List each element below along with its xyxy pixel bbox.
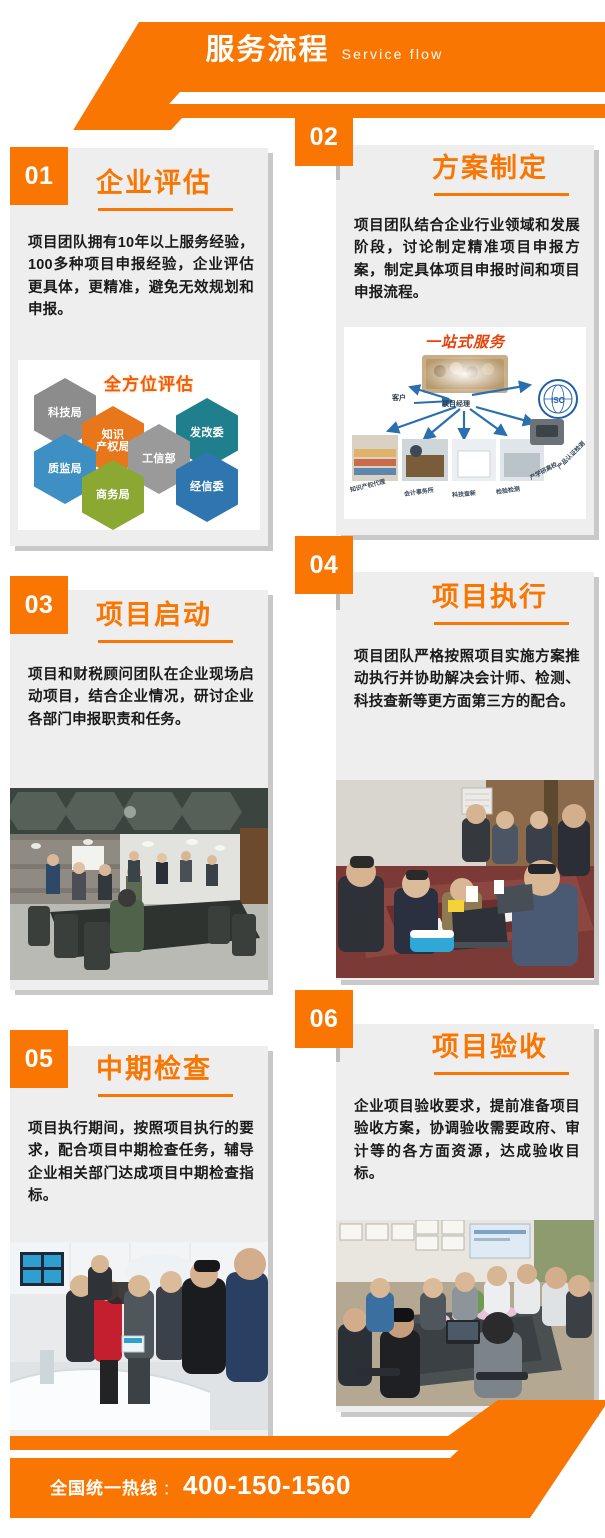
footer-banner-shape — [0, 1400, 605, 1538]
card-04[interactable]: 项目执行 项目团队严格按照项目实施方案推动执行并协助解决会计师、检测、科技查新等… — [336, 572, 594, 980]
card-01-body: 项目团队拥有10年以上服务经验，100多种项目申报经验，企业评估更具体，更精准，… — [28, 232, 254, 322]
hex-chart-title: 全方位评估 — [104, 370, 194, 395]
card-05-title: 中期检查 — [96, 1056, 212, 1083]
card-02-title: 方案制定 — [432, 155, 548, 182]
card-06-title: 项目验收 — [432, 1034, 548, 1061]
card-03-photo — [10, 788, 268, 980]
card-03[interactable]: 项目启动 项目和财税顾问团队在企业现场启动项目，结合企业情况，研讨企业各部门申报… — [10, 590, 268, 990]
card-01-title-rule — [98, 208, 233, 211]
card-01[interactable]: 企业评估 项目团队拥有10年以上服务经验，100多种项目申报经验，企业评估更具体… — [10, 148, 268, 546]
card-03-title: 项目启动 — [96, 602, 212, 629]
card-04-title: 项目执行 — [432, 584, 548, 611]
card-01-title: 企业评估 — [96, 170, 212, 197]
footer-banner: 全国统一热线 ： 400-150-1560 — [0, 1400, 605, 1538]
card-04-badge-stem — [336, 592, 340, 610]
hexagon-assessment-chart: 全方位评估 科技局 知识 产权局 发改委 质监局 工信部 商务局 经信委 — [18, 360, 260, 530]
card-06-title-rule — [434, 1072, 569, 1075]
card-05[interactable]: 中期检查 项目执行期间，按照项目执行的要求，配合项目中期检查任务，辅导企业相关部… — [10, 1046, 268, 1436]
card-04-photo — [336, 780, 594, 978]
card-06[interactable]: 项目验收 企业项目验收要求，提前准备项目验收方案，协调验收需要政府、审计等的各方… — [336, 1024, 594, 1412]
card-06-body: 企业项目验收要求，提前准备项目验收方案，协调验收需要政府、审计等的各方面资源，达… — [354, 1096, 580, 1186]
card-02-badge: 02 — [295, 108, 353, 166]
service-flow-infographic: 服务流程 Service flow 企业评估 项目团队拥有10年以上服务经验，1… — [0, 0, 605, 1538]
card-02[interactable]: 方案制定 项目团队结合企业行业领域和发展阶段，讨论制定精准项目申报方案，制定具体… — [336, 145, 594, 535]
card-03-badge: 03 — [10, 576, 68, 634]
hotline-separator: ： — [160, 1478, 181, 1499]
svg-text:ISO: ISO — [551, 396, 565, 405]
card-02-body: 项目团队结合企业行业领域和发展阶段，讨论制定精准项目申报方案，制定具体项目申报时… — [354, 215, 580, 305]
one-stop-service-diagram: 一站式服务 — [344, 327, 586, 519]
card-06-badge: 06 — [295, 990, 353, 1048]
oss-center-label-customer: 客户 — [392, 393, 406, 403]
card-06-photo — [336, 1220, 594, 1406]
card-02-title-rule — [434, 193, 569, 196]
oss-center-label-manager: 项目经理 — [442, 399, 470, 409]
card-05-badge: 05 — [10, 1030, 68, 1088]
card-03-body: 项目和财税顾问团队在企业现场启动项目，结合企业情况，研讨企业各部门申报职责和任务… — [28, 664, 254, 731]
card-05-body: 项目执行期间，按照项目执行的要求，配合项目中期检查任务，辅导企业相关部门达成项目… — [28, 1118, 254, 1208]
card-01-badge: 01 — [10, 147, 68, 205]
hotline-number[interactable]: 400-150-1560 — [183, 1470, 351, 1501]
card-04-badge: 04 — [295, 536, 353, 594]
card-03-title-rule — [98, 640, 233, 643]
card-04-body: 项目团队严格按照项目实施方案推动执行并协助解决会计师、检测、科技查新等更方面第三… — [354, 646, 580, 713]
hotline-label: 全国统一热线 — [50, 1474, 158, 1499]
card-04-title-rule — [434, 622, 569, 625]
hotline-group: 全国统一热线 ： 400-150-1560 — [50, 1470, 351, 1501]
card-05-title-rule — [98, 1094, 233, 1097]
